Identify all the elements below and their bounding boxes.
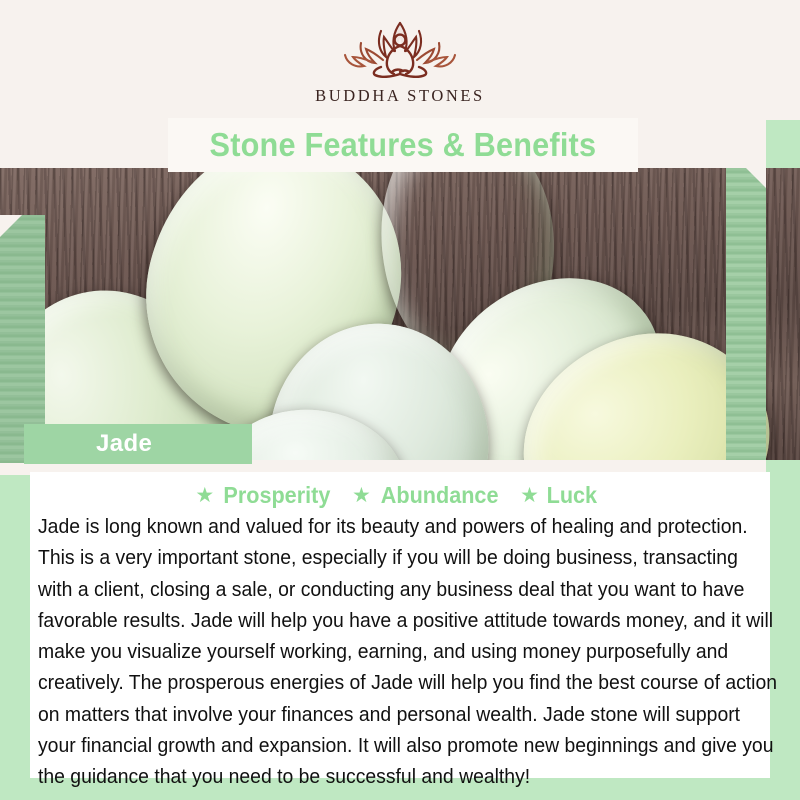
stone-description: Jade is long known and valued for its be… <box>38 512 777 794</box>
page-title-banner: Stone Features & Benefits <box>168 118 638 172</box>
sage-accent-left-notch <box>0 215 22 237</box>
page-title: Stone Features & Benefits <box>210 126 597 164</box>
sage-accent-right <box>726 168 766 460</box>
stone-name-band: Jade <box>24 424 252 464</box>
star-icon: ★ <box>195 485 214 506</box>
sage-accent-right-notch <box>746 168 766 188</box>
benefit-label: Luck <box>547 482 597 509</box>
brand-name: BUDDHA STONES <box>315 86 485 106</box>
brand-header: BUDDHA STONES <box>0 0 800 120</box>
poster-canvas: BUDDHA STONES Stone Features & Benefits … <box>0 0 800 800</box>
benefit-item-prosperity: ★ Prosperity <box>195 482 334 509</box>
lotus-meditation-icon <box>337 15 463 81</box>
stone-name: Jade <box>96 430 152 458</box>
benefits-list: ★ Prosperity ★ Abundance ★ Luck <box>32 482 762 509</box>
benefit-label: Abundance <box>381 482 499 509</box>
wood-background <box>0 168 800 460</box>
content-panel: ★ Prosperity ★ Abundance ★ Luck Jade is … <box>30 472 770 778</box>
benefit-item-luck: ★ Luck <box>520 482 599 509</box>
stone-photo <box>0 168 800 460</box>
star-icon: ★ <box>520 485 539 506</box>
benefit-label: Prosperity <box>224 482 331 509</box>
frame-left-border <box>0 475 30 800</box>
star-icon: ★ <box>352 485 371 506</box>
benefit-item-abundance: ★ Abundance <box>352 482 502 509</box>
